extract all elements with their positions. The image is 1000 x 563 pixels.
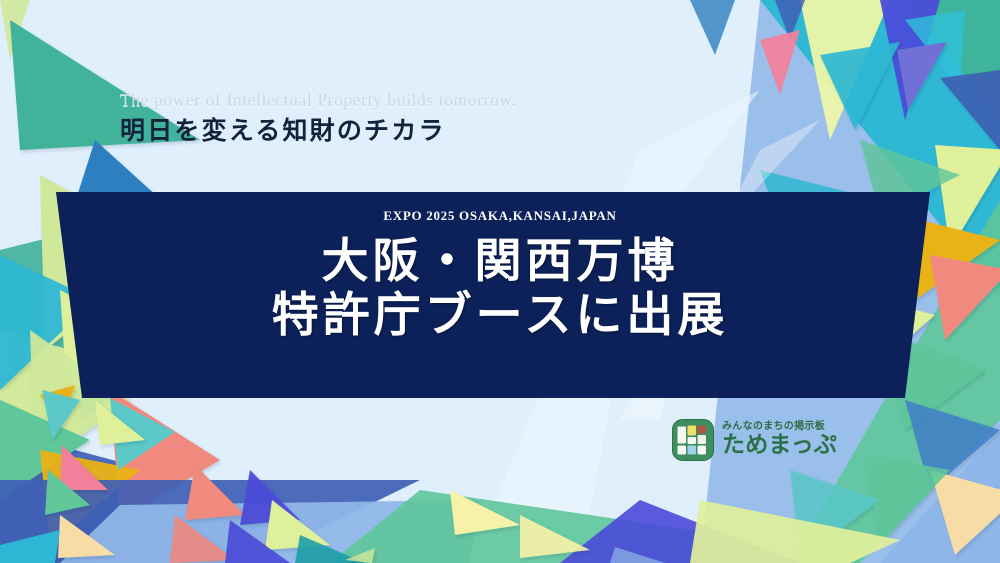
tagline-japanese: 明日を変える知財のチカラ <box>120 115 720 148</box>
headline-line-2: 特許庁ブースに出展 <box>272 288 729 344</box>
tagline-block: The power of Intellectual Property build… <box>120 90 720 147</box>
logo-wordmark: ためまっぷ <box>722 433 837 458</box>
expo-label: EXPO 2025 OSAKA,KANSAI,JAPAN <box>383 208 616 224</box>
promo-banner-canvas: The power of Intellectual Property build… <box>0 0 1000 563</box>
headline-banner: EXPO 2025 OSAKA,KANSAI,JAPAN 大阪・関西万博 特許庁… <box>0 192 1000 398</box>
tagline-english: The power of Intellectual Property build… <box>120 90 720 112</box>
tamemap-logo-lockup[interactable]: みんなのまちの掲示板 ためまっぷ <box>672 419 837 461</box>
headline-line-1: 大阪・関西万博 <box>322 234 679 290</box>
logo-subtitle: みんなのまちの掲示板 <box>722 421 837 432</box>
banner-content: EXPO 2025 OSAKA,KANSAI,JAPAN 大阪・関西万博 特許庁… <box>0 192 1000 398</box>
tilegrid-app-icon <box>672 419 714 461</box>
logo-text-block: みんなのまちの掲示板 ためまっぷ <box>722 421 837 458</box>
